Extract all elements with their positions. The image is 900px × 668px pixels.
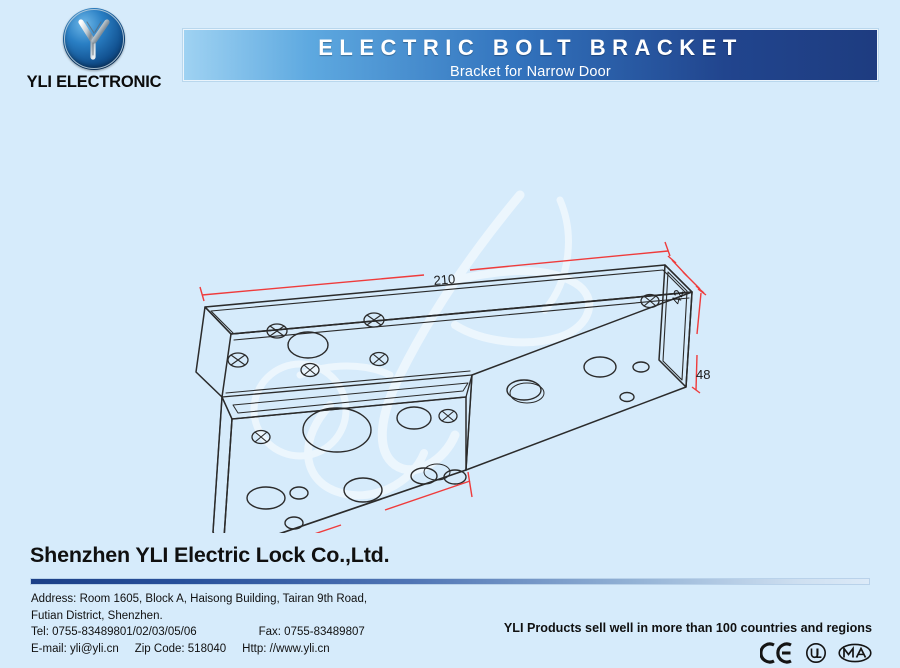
- brand-logo: YLI ELECTRONIC: [14, 8, 174, 92]
- certification-marks: [504, 642, 872, 664]
- tel-fax-row: Tel: 0755-83489801/02/03/05/06Fax: 0755-…: [31, 624, 367, 641]
- company-name: Shenzhen YLI Electric Lock Co.,Ltd.: [30, 543, 389, 568]
- logo-y-glyph: [63, 8, 125, 70]
- yli-y-logo-icon: [63, 8, 125, 70]
- zip-label: Zip Code: 518040: [135, 643, 226, 655]
- title-banner: ELECTRIC BOLT BRACKET Bracket for Narrow…: [183, 29, 878, 81]
- certification-block: YLI Products sell well in more than 100 …: [504, 621, 872, 664]
- ma-mark-icon: [838, 642, 872, 664]
- contact-block: Address: Room 1605, Block A, Haisong Bui…: [31, 591, 367, 657]
- brand-name: YLI ELECTRONIC: [14, 73, 174, 92]
- footer-divider: [30, 578, 870, 585]
- tel-label: Tel: 0755-83489801/02/03/05/06: [31, 626, 197, 638]
- technical-drawing: 210 42 48 105: [0, 105, 900, 533]
- bracket-drawing-svg: 210 42 48 105: [0, 105, 900, 533]
- product-subtitle: Bracket for Narrow Door: [184, 59, 877, 80]
- ce-mark-icon: [760, 642, 794, 664]
- tagline: YLI Products sell well in more than 100 …: [504, 621, 872, 635]
- product-title: ELECTRIC BOLT BRACKET: [184, 30, 877, 59]
- page-header: YLI ELECTRONIC ELECTRIC BOLT BRACKET Bra…: [0, 0, 900, 105]
- watermark-script: [254, 195, 589, 495]
- dimension-label-210: 210: [433, 271, 456, 288]
- address-line-1: Address: Room 1605, Block A, Haisong Bui…: [31, 591, 367, 608]
- page-footer: Shenzhen YLI Electric Lock Co.,Ltd. Addr…: [0, 533, 900, 668]
- address-line-2: Futian District, Shenzhen.: [31, 608, 367, 625]
- fax-label: Fax: 0755-83489807: [259, 626, 365, 638]
- dimension-label-48: 48: [696, 367, 710, 382]
- http-label[interactable]: Http: //www.yli.cn: [242, 643, 330, 655]
- email-label[interactable]: E-mail: yli@yli.cn: [31, 643, 119, 655]
- ul-mark-icon: [805, 642, 827, 664]
- email-zip-http-row: E-mail: yli@yli.cnZip Code: 518040Http: …: [31, 641, 367, 658]
